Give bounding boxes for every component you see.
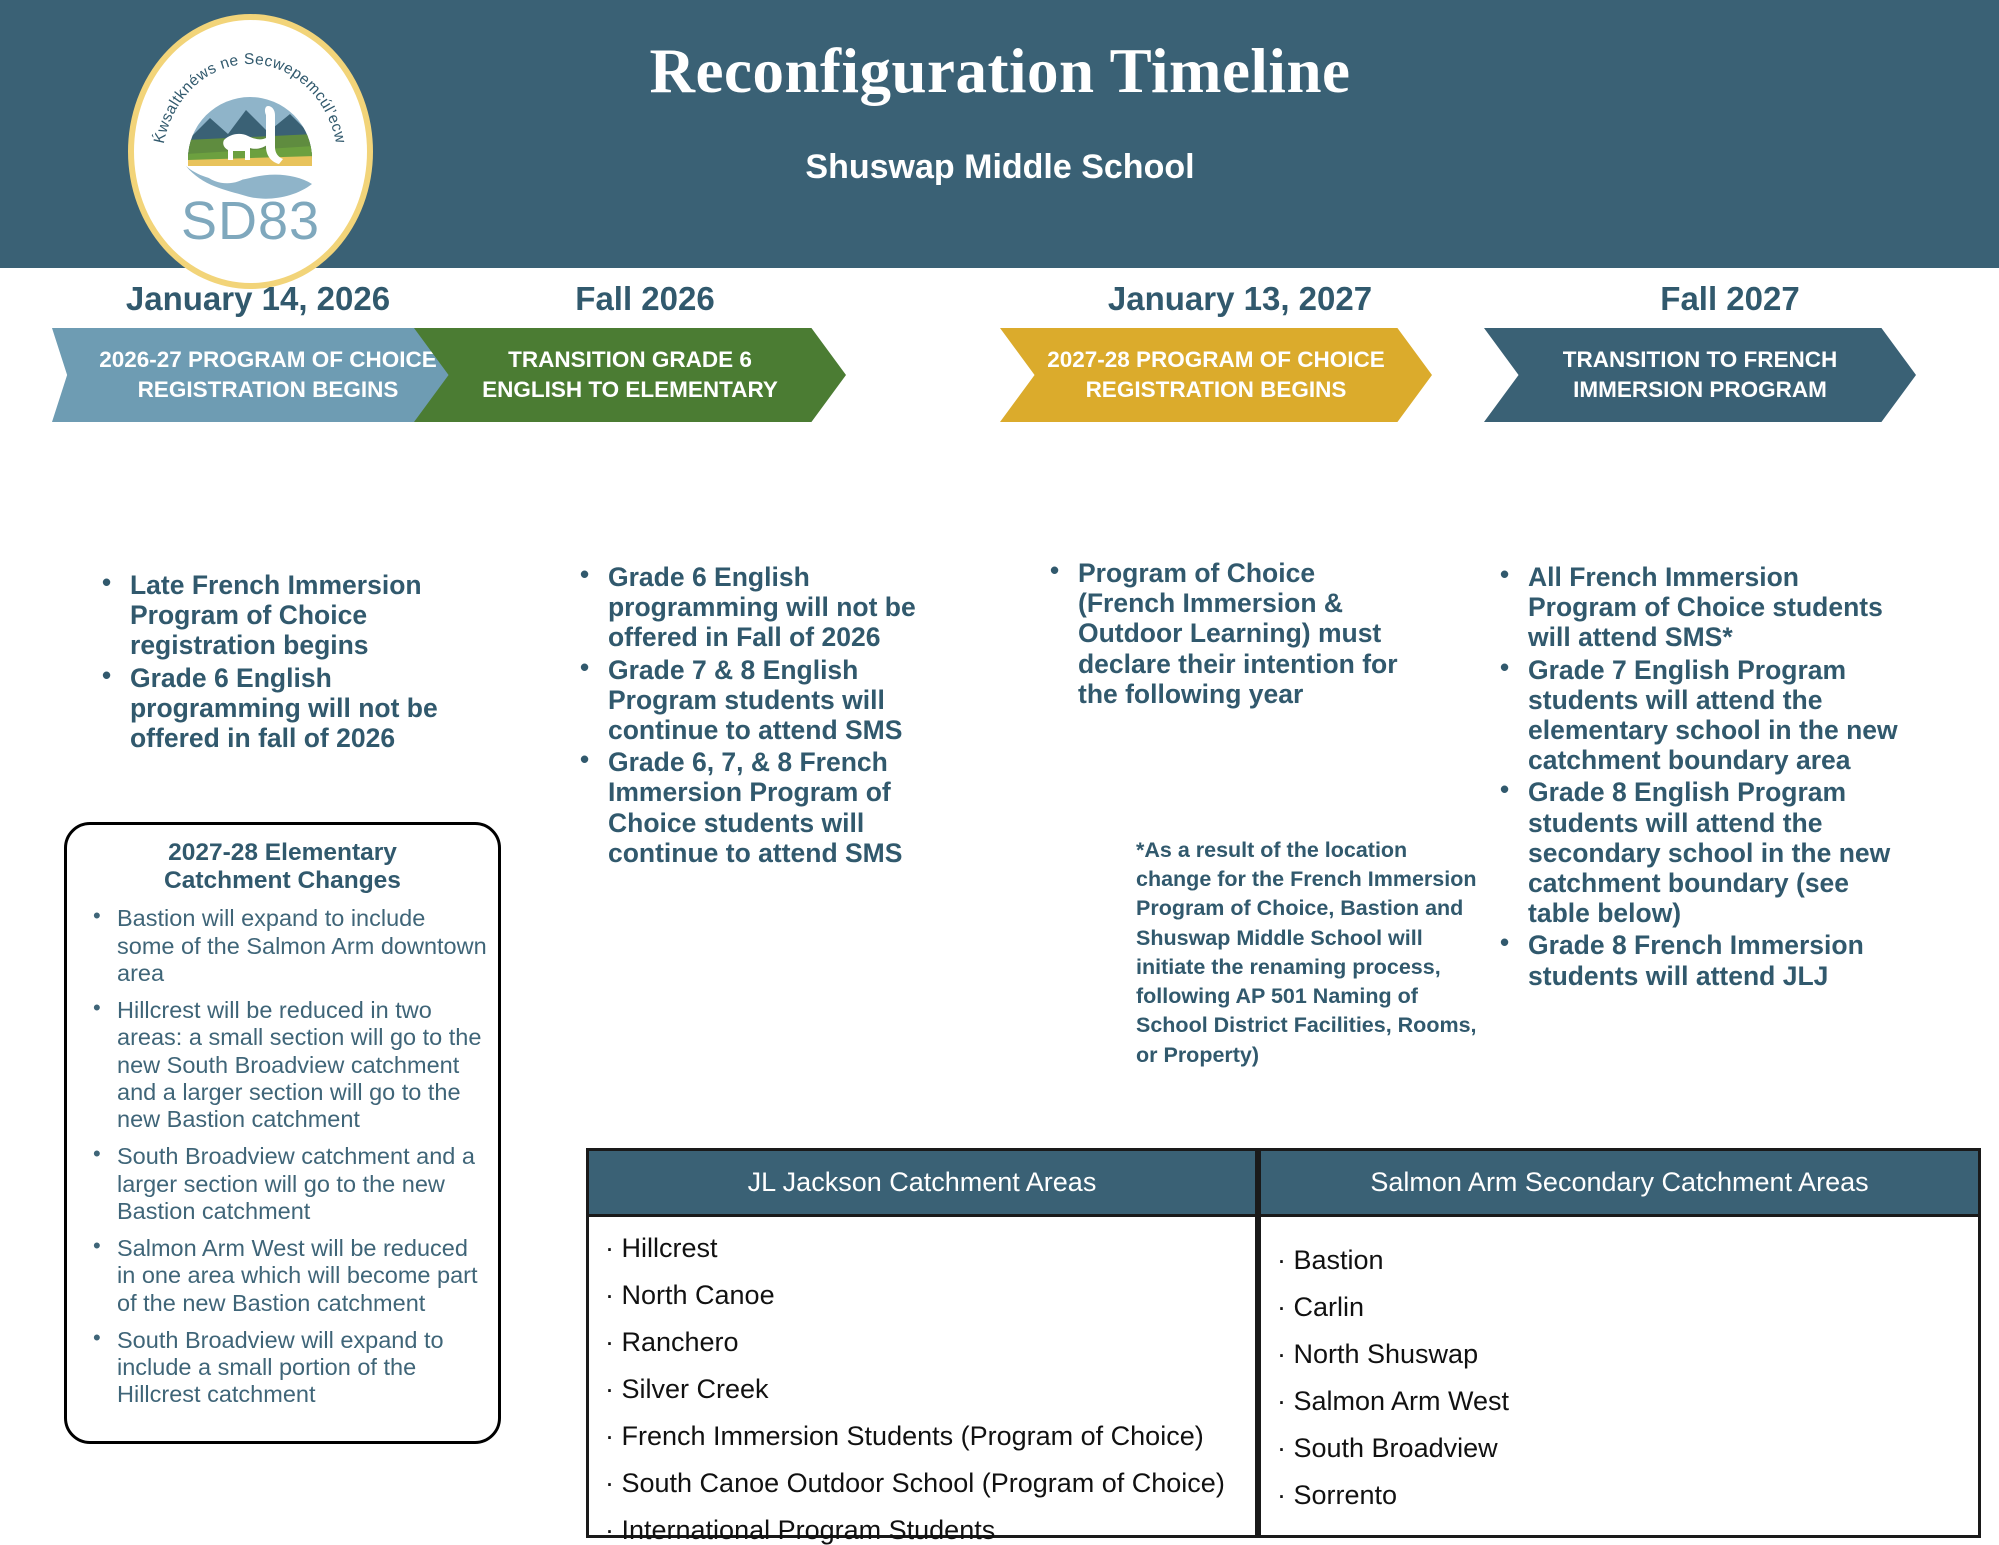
table-row: · Carlin xyxy=(1277,1294,1962,1321)
timeline-date-0: January 14, 2026 xyxy=(48,280,468,318)
list-item: Grade 6 English programming will not be … xyxy=(92,663,482,754)
table-row: · Hillcrest xyxy=(605,1235,1239,1262)
list-item: Grade 7 English Program students will at… xyxy=(1490,655,1910,776)
catchment-box-title-line1: 2027-28 Elementary xyxy=(77,839,488,867)
table-row: · North Shuswap xyxy=(1277,1341,1962,1368)
table-row: · South Canoe Outdoor School (Program of… xyxy=(605,1470,1239,1497)
list-item: Grade 6, 7, & 8 French Immersion Program… xyxy=(570,747,960,868)
timeline-band-3-line1: TRANSITION TO FRENCH xyxy=(1563,345,1838,375)
list-item: Hillcrest will be reduced in two areas: … xyxy=(77,997,488,1133)
timeline-band-1-line1: TRANSITION GRADE 6 xyxy=(482,345,778,375)
table-row: · Silver Creek xyxy=(605,1376,1239,1403)
catchment-box-title: 2027-28 Elementary Catchment Changes xyxy=(77,839,488,895)
timeline-band-1-line2: ENGLISH TO ELEMENTARY xyxy=(482,375,778,405)
footnote-text: *As a result of the location change for … xyxy=(1136,836,1486,1070)
list-item: All French Immersion Program of Choice s… xyxy=(1490,562,1910,653)
list-item: Grade 7 & 8 English Program students wil… xyxy=(570,655,960,746)
timeline-band-3-line2: IMMERSION PROGRAM xyxy=(1563,375,1838,405)
timeline-band-0[interactable]: 2026-27 PROGRAM OF CHOICE REGISTRATION B… xyxy=(52,328,484,422)
table-row: · French Immersion Students (Program of … xyxy=(605,1423,1239,1450)
list-item: Program of Choice (French Immersion & Ou… xyxy=(1040,558,1410,709)
table-body-salmon-arm-secondary: · Bastion · Carlin · North Shuswap · Sal… xyxy=(1261,1217,1978,1539)
timeline-date-3: Fall 2027 xyxy=(1520,280,1940,318)
timeline-band-2-line1: 2027-28 PROGRAM OF CHOICE xyxy=(1047,345,1385,375)
table-column-salmon-arm-secondary: Salmon Arm Secondary Catchment Areas · B… xyxy=(1258,1148,1981,1538)
list-item: Grade 8 French Immersion students will a… xyxy=(1490,930,1910,990)
list-item: Late French Immersion Program of Choice … xyxy=(92,570,482,661)
timeline-band-2[interactable]: 2027-28 PROGRAM OF CHOICE REGISTRATION B… xyxy=(1000,328,1432,422)
timeline-date-1: Fall 2026 xyxy=(440,280,850,318)
catchment-areas-table: JL Jackson Catchment Areas · Hillcrest ·… xyxy=(586,1148,1981,1538)
table-row: · Sorrento xyxy=(1277,1482,1962,1509)
table-row: · Bastion xyxy=(1277,1247,1962,1274)
timeline-bullets-3: All French Immersion Program of Choice s… xyxy=(1490,562,1910,993)
table-row: · Ranchero xyxy=(605,1329,1239,1356)
logo-district-label: SD83 xyxy=(128,190,373,252)
timeline-band-0-line2: REGISTRATION BEGINS xyxy=(99,375,437,405)
catchment-box-title-line2: Catchment Changes xyxy=(77,867,488,895)
infographic-page: Reconfiguration Timeline Shuswap Middle … xyxy=(0,0,1999,1545)
timeline-bullets-2: Program of Choice (French Immersion & Ou… xyxy=(1040,558,1410,711)
catchment-changes-box: 2027-28 Elementary Catchment Changes Bas… xyxy=(64,822,501,1444)
sd83-logo: Ḱwsaltknéws ne Secwepemcúl’ecw SD83 xyxy=(128,14,373,289)
page-title: Reconfiguration Timeline xyxy=(560,38,1440,104)
table-header-jl-jackson: JL Jackson Catchment Areas xyxy=(589,1151,1255,1217)
table-body-jl-jackson: · Hillcrest · North Canoe · Ranchero · S… xyxy=(589,1217,1255,1545)
timeline-date-2: January 13, 2027 xyxy=(1030,280,1450,318)
table-row: · North Canoe xyxy=(605,1282,1239,1309)
table-header-salmon-arm-secondary: Salmon Arm Secondary Catchment Areas xyxy=(1261,1151,1978,1217)
table-row: · South Broadview xyxy=(1277,1435,1962,1462)
timeline-bullets-0: Late French Immersion Program of Choice … xyxy=(92,570,482,755)
list-item: South Broadview catchment and a larger s… xyxy=(77,1143,488,1225)
page-subtitle: Shuswap Middle School xyxy=(560,148,1440,187)
table-row: · Salmon Arm West xyxy=(1277,1388,1962,1415)
table-row: · International Program Students xyxy=(605,1517,1239,1544)
timeline-band-1[interactable]: TRANSITION GRADE 6 ENGLISH TO ELEMENTARY xyxy=(414,328,846,422)
list-item: Grade 8 English Program students will at… xyxy=(1490,777,1910,928)
list-item: Bastion will expand to include some of t… xyxy=(77,905,488,987)
timeline-bullets-1: Grade 6 English programming will not be … xyxy=(570,562,960,870)
list-item: Grade 6 English programming will not be … xyxy=(570,562,960,653)
table-column-jl-jackson: JL Jackson Catchment Areas · Hillcrest ·… xyxy=(586,1148,1258,1538)
timeline-band-3[interactable]: TRANSITION TO FRENCH IMMERSION PROGRAM xyxy=(1484,328,1916,422)
list-item: Salmon Arm West will be reduced in one a… xyxy=(77,1235,488,1317)
timeline-band-0-line1: 2026-27 PROGRAM OF CHOICE xyxy=(99,345,437,375)
list-item: South Broadview will expand to include a… xyxy=(77,1327,488,1409)
timeline-band-2-line2: REGISTRATION BEGINS xyxy=(1047,375,1385,405)
